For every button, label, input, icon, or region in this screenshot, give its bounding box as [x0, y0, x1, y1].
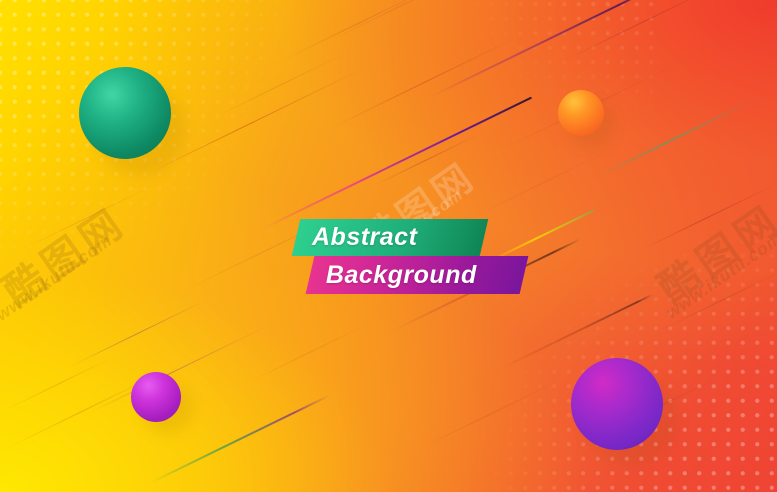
magenta-sphere — [131, 372, 181, 422]
orange-sphere — [558, 90, 604, 136]
headline-banner-background: Background — [306, 256, 529, 294]
headline-line-2: Background — [326, 261, 477, 290]
headline-banner-abstract: Abstract — [292, 219, 489, 256]
green-sphere — [79, 67, 171, 159]
purple-sphere — [571, 358, 663, 450]
headline-line-1: Abstract — [312, 223, 417, 252]
abstract-background-canvas: 酷图网 www.ikutu.com 酷图网 www.ikutu.com 酷图网 … — [0, 0, 777, 492]
